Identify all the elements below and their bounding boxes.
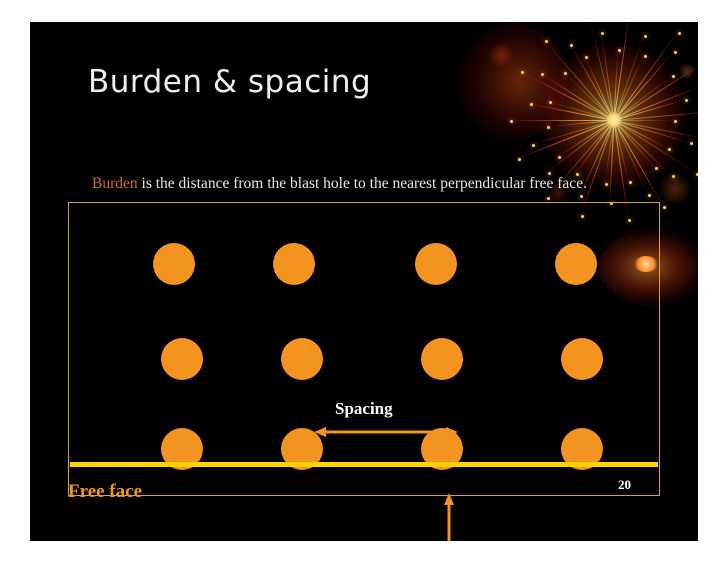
firework-ray: [609, 120, 614, 202]
diagram-box: Spacing Burden: [68, 202, 660, 496]
firework-ray: [614, 22, 630, 121]
blast-hole: [415, 243, 457, 285]
blast-hole: [561, 338, 603, 380]
firework-spark: [585, 56, 588, 59]
firework-spark: [655, 167, 658, 170]
firework-ray: [614, 120, 690, 143]
firework-ray: [614, 120, 672, 176]
firework-spark: [674, 120, 677, 123]
firework-graphic: [458, 22, 698, 232]
firework-spark: [549, 101, 552, 104]
firework-ray: [614, 120, 669, 149]
firework-ray: [614, 120, 649, 194]
firework-spark: [510, 120, 513, 123]
firework-ray: [544, 40, 614, 121]
firework-spark: [629, 181, 632, 184]
firework-ray: [614, 120, 655, 168]
free-face-label: Free face: [68, 481, 142, 503]
firework-spark: [518, 158, 521, 161]
firework-spark: [605, 183, 608, 186]
firework-ray: [614, 86, 698, 121]
firework-ray: [589, 22, 615, 121]
firework-ray: [518, 120, 614, 159]
spacing-arrow-icon: [314, 426, 458, 438]
firework-spark: [690, 142, 693, 145]
firework-ray: [614, 55, 645, 121]
firework-ray: [549, 101, 615, 121]
firework-ray: [614, 110, 698, 121]
firework-spark: [618, 49, 621, 52]
firework-spark: [663, 206, 666, 209]
firework-spark: [547, 197, 550, 200]
burden-arrow-icon: [443, 493, 455, 541]
firework-glow: [538, 42, 688, 192]
firework-ray: [614, 51, 674, 120]
firework-ray: [576, 120, 615, 173]
page-number: 20: [618, 477, 631, 493]
firework-spark: [530, 103, 533, 106]
firework-ray: [614, 120, 698, 140]
blast-hole: [421, 338, 463, 380]
firework-ray: [530, 103, 615, 121]
firework-ember: [678, 62, 696, 80]
firework-spark: [558, 156, 561, 159]
blast-hole: [555, 243, 597, 285]
slide: Burden & spacing Burden is the distance …: [30, 22, 698, 541]
firework-spark: [580, 195, 583, 198]
firework-spark: [644, 55, 647, 58]
firework-spark: [674, 51, 677, 54]
firework-ray: [614, 61, 698, 121]
firework-spark: [672, 75, 675, 78]
firework-ray: [614, 99, 685, 121]
caption-text: Burden is the distance from the blast ho…: [92, 175, 587, 193]
spacing-label: Spacing: [335, 399, 393, 419]
firework-spark: [648, 194, 651, 197]
firework-spark: [685, 99, 688, 102]
firework-ray: [614, 75, 672, 121]
page-title: Burden & spacing: [88, 64, 371, 100]
firework-ray: [570, 44, 615, 121]
blast-hole: [161, 338, 203, 380]
firework-ray: [614, 120, 674, 121]
firework-ray: [541, 73, 615, 121]
firework-spark: [668, 148, 671, 151]
caption-rest: is the distance from the blast hole to t…: [138, 175, 587, 192]
firework-ray: [614, 35, 645, 120]
firework-glow-secondary: [458, 22, 568, 142]
firework-spark: [696, 173, 698, 176]
firework-spark: [532, 144, 535, 147]
firework-spark: [644, 35, 647, 38]
firework-ember: [658, 172, 692, 206]
firework-ray: [614, 120, 630, 182]
caption-highlight: Burden: [92, 175, 138, 192]
firework-spark: [547, 126, 550, 129]
firework-core: [606, 112, 622, 128]
firework-ray: [614, 120, 697, 174]
firework-ember: [488, 42, 514, 68]
firework-spark: [672, 175, 675, 178]
firework-spark: [601, 32, 604, 35]
firework-ray: [614, 32, 678, 121]
free-face-line: [70, 462, 658, 467]
firework-ray: [564, 72, 614, 121]
firework-ray: [558, 120, 614, 157]
firework-spark: [521, 71, 524, 74]
firework-ray: [510, 120, 614, 121]
firework-spark: [570, 44, 573, 47]
blast-hole: [281, 338, 323, 380]
firework-spark: [545, 40, 548, 43]
firework-ray: [604, 120, 614, 183]
firework-spark: [541, 73, 544, 76]
firework-spark: [564, 72, 567, 75]
firework-ray: [547, 120, 614, 172]
firework-ray: [584, 57, 614, 121]
firework-spark: [678, 32, 681, 35]
firework-ray: [532, 120, 614, 145]
blast-hole: [273, 243, 315, 285]
firework-ray: [521, 71, 615, 120]
firework-ray: [614, 120, 664, 206]
firework-ray: [601, 32, 615, 120]
firework-ray: [547, 120, 614, 127]
firework-ray: [614, 50, 619, 121]
blast-hole: [153, 243, 195, 285]
